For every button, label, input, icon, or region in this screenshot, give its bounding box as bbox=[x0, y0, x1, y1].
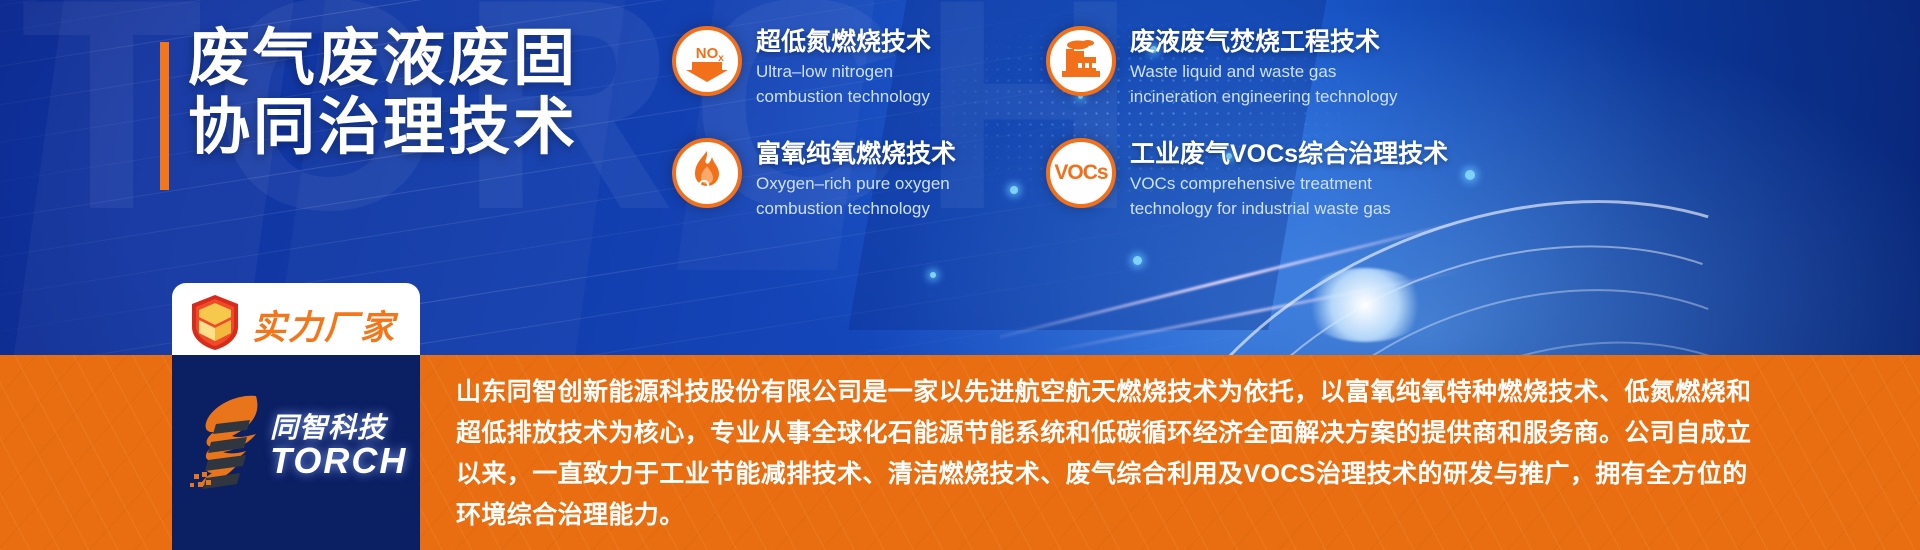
sparkle-icon bbox=[930, 272, 936, 278]
feature-title-en-line2: incineration engineering technology bbox=[1130, 86, 1397, 107]
svg-text:NO: NO bbox=[696, 45, 719, 62]
nox-reduction-icon: NO x bbox=[672, 26, 742, 96]
feature-text: 富氧纯氧燃烧技术 Oxygen–rich pure oxygen combust… bbox=[756, 138, 956, 219]
strength-manufacturer-badge[interactable]: 实力厂家 bbox=[172, 283, 420, 365]
promotional-banner: TORCH 废气废液废固 协同治理技术 NO x bbox=[0, 0, 1920, 550]
description-line: 山东同智创新能源科技股份有限公司是一家以先进航空航天燃烧技术为依托，以富氧纯氧特… bbox=[456, 372, 1856, 413]
oxygen-flame-icon: O 2 bbox=[672, 138, 742, 208]
torch-flame-logo-icon bbox=[186, 487, 274, 504]
feature-title-en-line1: Oxygen–rich pure oxygen bbox=[756, 173, 956, 194]
company-logo[interactable]: 同智科技 TORCH bbox=[186, 388, 408, 508]
feature-title-zh: 富氧纯氧燃烧技术 bbox=[756, 139, 956, 169]
vocs-icon: VOCs bbox=[1046, 138, 1116, 208]
company-description: 山东同智创新能源科技股份有限公司是一家以先进航空航天燃烧技术为依托，以富氧纯氧特… bbox=[456, 372, 1856, 536]
headline-line-2: 协同治理技术 bbox=[188, 93, 578, 162]
logo-name-en: TORCH bbox=[270, 440, 407, 482]
feature-title-en-line2: combustion technology bbox=[756, 86, 931, 107]
page-title: 废气废液废固 协同治理技术 bbox=[188, 24, 578, 162]
svg-text:2: 2 bbox=[712, 185, 717, 195]
feature-title-en-line1: Waste liquid and waste gas bbox=[1130, 61, 1397, 82]
description-line: 环境综合治理能力。 bbox=[456, 495, 1856, 536]
feature-text: 废液废气焚烧工程技术 Waste liquid and waste gas in… bbox=[1130, 26, 1397, 107]
feature-title-zh: 工业废气VOCs综合治理技术 bbox=[1130, 139, 1448, 169]
feature-title-en-line1: Ultra–low nitrogen bbox=[756, 61, 931, 82]
shield-medal-icon bbox=[188, 293, 242, 356]
headline-line-1: 废气废液废固 bbox=[188, 24, 578, 93]
feature-item-vocs[interactable]: VOCs 工业废气VOCs综合治理技术 VOCs comprehensive t… bbox=[1046, 138, 1448, 219]
headline-accent-bar bbox=[160, 42, 169, 190]
feature-title-en-line2: technology for industrial waste gas bbox=[1130, 198, 1448, 219]
feature-item-nox[interactable]: NO x 超低氮燃烧技术 Ultra–low nitrogen combusti… bbox=[672, 26, 931, 107]
badge-label: 实力厂家 bbox=[252, 300, 396, 349]
feature-title-zh: 废液废气焚烧工程技术 bbox=[1130, 27, 1397, 57]
vocs-icon-label: VOCs bbox=[1054, 161, 1107, 185]
description-line: 以来，一直致力于工业节能减排技术、清洁燃烧技术、废气综合利用及VOCS治理技术的… bbox=[456, 454, 1856, 495]
feature-title-zh: 超低氮燃烧技术 bbox=[756, 27, 931, 57]
feature-item-oxygen[interactable]: O 2 富氧纯氧燃烧技术 Oxygen–rich pure oxygen com… bbox=[672, 138, 956, 219]
feature-title-en-line2: combustion technology bbox=[756, 198, 956, 219]
feature-item-incineration[interactable]: 废液废气焚烧工程技术 Waste liquid and waste gas in… bbox=[1046, 26, 1397, 107]
factory-incineration-icon bbox=[1046, 26, 1116, 96]
feature-text: 工业废气VOCs综合治理技术 VOCs comprehensive treatm… bbox=[1130, 138, 1448, 219]
feature-title-en-line1: VOCs comprehensive treatment bbox=[1130, 173, 1448, 194]
description-line: 超低排放技术为核心，专业从事全球化石能源节能系统和低碳循环经济全面解决方案的提供… bbox=[456, 413, 1856, 454]
svg-text:O: O bbox=[698, 177, 710, 194]
feature-text: 超低氮燃烧技术 Ultra–low nitrogen combustion te… bbox=[756, 26, 931, 107]
